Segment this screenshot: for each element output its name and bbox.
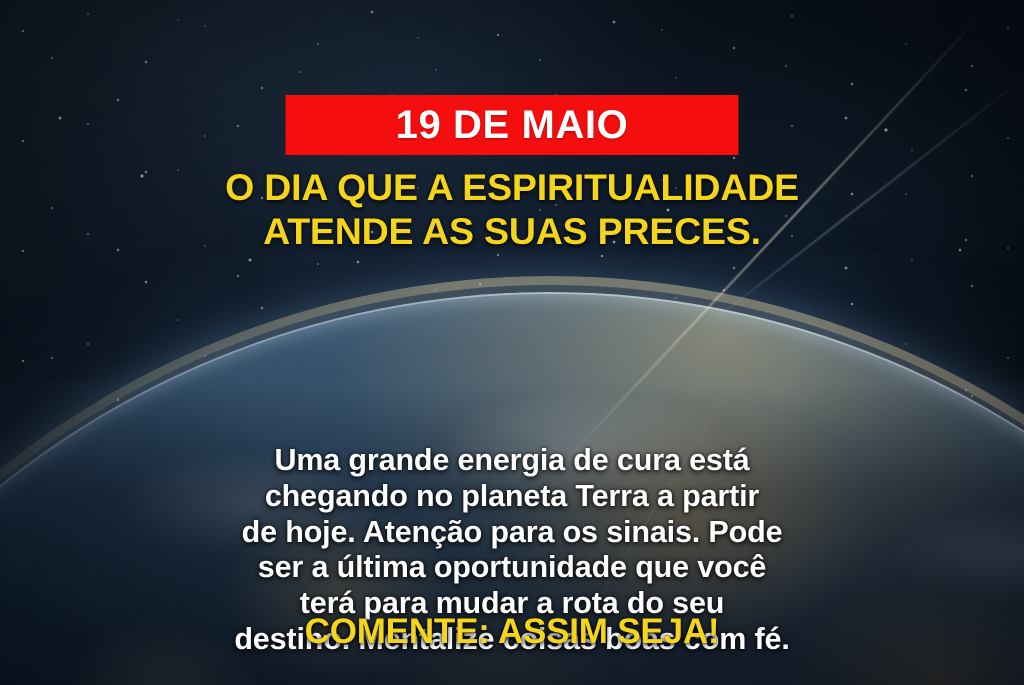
headline: O DIA QUE A ESPIRITUALIDADE ATENDE AS SU… (0, 166, 1024, 253)
date-banner: 19 DE MAIO (286, 95, 739, 155)
date-banner-label: 19 DE MAIO (396, 105, 629, 145)
headline-line-2: ATENDE AS SUAS PRECES. (0, 210, 1024, 254)
body-copy-line-3: de hoje. Atenção para os sinais. Pode (0, 515, 1024, 551)
body-copy-line-4: ser a última oportunidade que você (0, 550, 1024, 586)
headline-line-1: O DIA QUE A ESPIRITUALIDADE (0, 166, 1024, 210)
poster-content: 19 DE MAIO O DIA QUE A ESPIRITUALIDADE A… (0, 0, 1024, 685)
social-media-poster: 19 DE MAIO O DIA QUE A ESPIRITUALIDADE A… (0, 0, 1024, 685)
call-to-action-text: COMENTE: ASSIM SEJA! (0, 613, 1024, 652)
body-copy-line-2: chegando no planeta Terra a partir (0, 479, 1024, 515)
body-copy-line-1: Uma grande energia de cura está (0, 443, 1024, 479)
